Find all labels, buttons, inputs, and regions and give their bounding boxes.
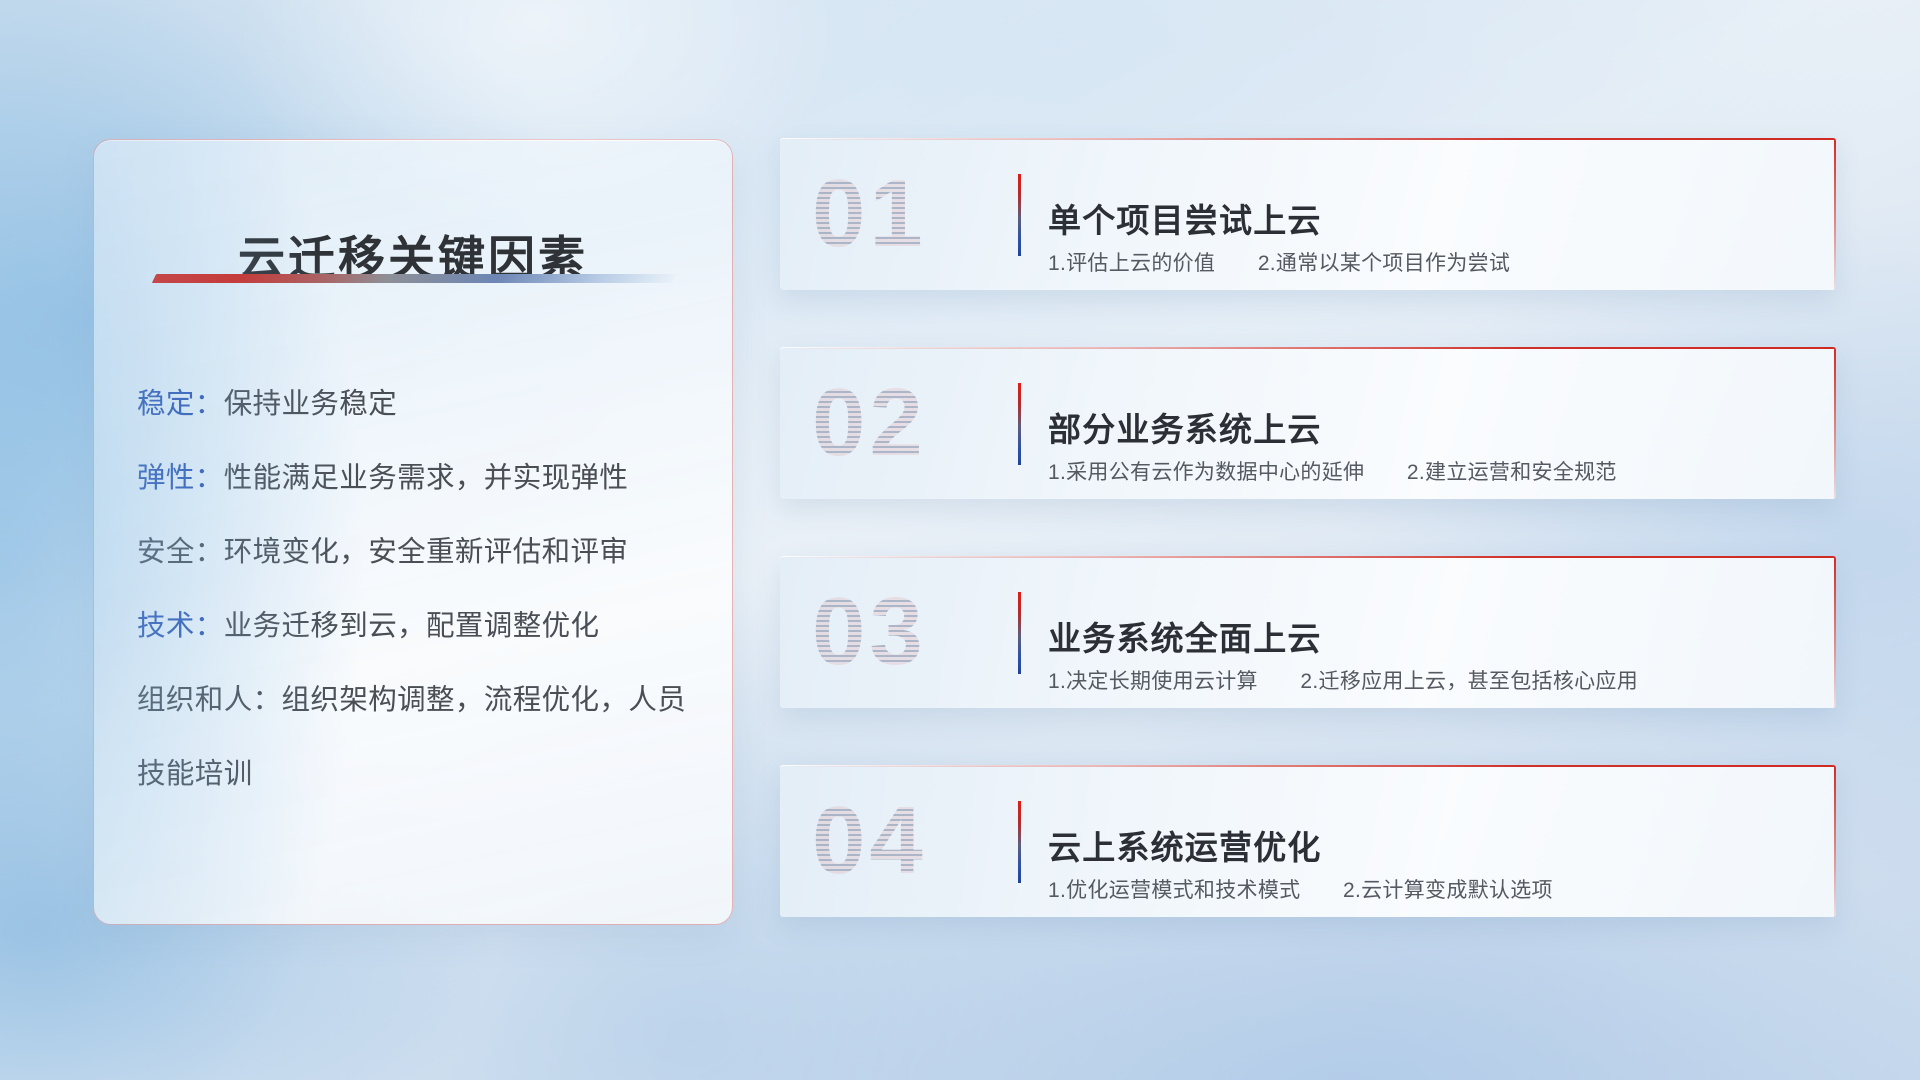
factor-list: 稳定：保持业务稳定 弹性：性能满足业务需求，并实现弹性 安全：环境变化，安全重新… — [137, 367, 712, 811]
title-underline-rule — [152, 274, 676, 283]
factor-value-stability: 保持业务稳定 — [224, 388, 397, 420]
accent-bar-02 — [1018, 383, 1021, 465]
stage-title-02: 部分业务系统上云 — [1048, 403, 1322, 451]
slide-canvas: 云迁移关键因素 稳定：保持业务稳定 弹性：性能满足业务需求，并实现弹性 安全：环… — [0, 0, 1920, 1080]
stage-card-02[interactable]: 02 02 部分业务系统上云 1.采用公有云作为数据中心的延伸 2.建立运营和安… — [780, 347, 1836, 499]
stage-number-01: 01 — [812, 152, 1002, 276]
factor-item-security: 安全：环境变化，安全重新评估和评审 — [137, 515, 712, 589]
stage-card-01[interactable]: 01 01 单个项目尝试上云 1.评估上云的价值 2.通常以某个项目作为尝试 — [780, 138, 1836, 290]
stage-title-04: 云上系统运营优化 — [1048, 821, 1322, 869]
factor-value-security: 环境变化，安全重新评估和评审 — [224, 536, 629, 568]
stage-card-04[interactable]: 04 04 云上系统运营优化 1.优化运营模式和技术模式 2.云计算变成默认选项 — [780, 765, 1836, 917]
factor-label-stability: 稳定： — [137, 388, 224, 420]
stage-number-04: 04 — [812, 779, 1002, 903]
factor-label-elasticity: 弹性： — [137, 462, 224, 494]
stage-desc-04: 1.优化运营模式和技术模式 2.云计算变成默认选项 — [1048, 874, 1553, 904]
factor-label-security: 安全： — [137, 536, 224, 568]
migration-stage-cards: 01 01 单个项目尝试上云 1.评估上云的价值 2.通常以某个项目作为尝试 0… — [780, 138, 1836, 974]
stage-desc-02: 1.采用公有云作为数据中心的延伸 2.建立运营和安全规范 — [1048, 456, 1617, 486]
stage-desc-01: 1.评估上云的价值 2.通常以某个项目作为尝试 — [1048, 247, 1510, 277]
factor-label-organization: 组织和人： — [137, 684, 282, 716]
factor-item-technology: 技术：业务迁移到云，配置调整优化 — [137, 589, 712, 663]
factor-value-elasticity: 性能满足业务需求，并实现弹性 — [224, 462, 629, 494]
factor-item-organization: 组织和人：组织架构调整，流程优化，人员技能培训 — [137, 663, 712, 811]
stage-title-01: 单个项目尝试上云 — [1048, 194, 1322, 242]
accent-bar-03 — [1018, 592, 1021, 674]
stage-number-02: 02 — [812, 361, 1002, 485]
factor-label-technology: 技术： — [137, 610, 224, 642]
accent-bar-01 — [1018, 174, 1021, 256]
stage-number-03: 03 — [812, 570, 1002, 694]
stage-desc-03: 1.决定长期使用云计算 2.迁移应用上云，甚至包括核心应用 — [1048, 665, 1638, 695]
factor-item-elasticity: 弹性：性能满足业务需求，并实现弹性 — [137, 441, 712, 515]
factor-item-stability: 稳定：保持业务稳定 — [137, 367, 712, 441]
stage-title-03: 业务系统全面上云 — [1048, 612, 1322, 660]
key-factors-panel: 云迁移关键因素 稳定：保持业务稳定 弹性：性能满足业务需求，并实现弹性 安全：环… — [93, 139, 733, 925]
accent-bar-04 — [1018, 801, 1021, 883]
factor-value-technology: 业务迁移到云，配置调整优化 — [224, 610, 600, 642]
stage-card-03[interactable]: 03 03 业务系统全面上云 1.决定长期使用云计算 2.迁移应用上云，甚至包括… — [780, 556, 1836, 708]
